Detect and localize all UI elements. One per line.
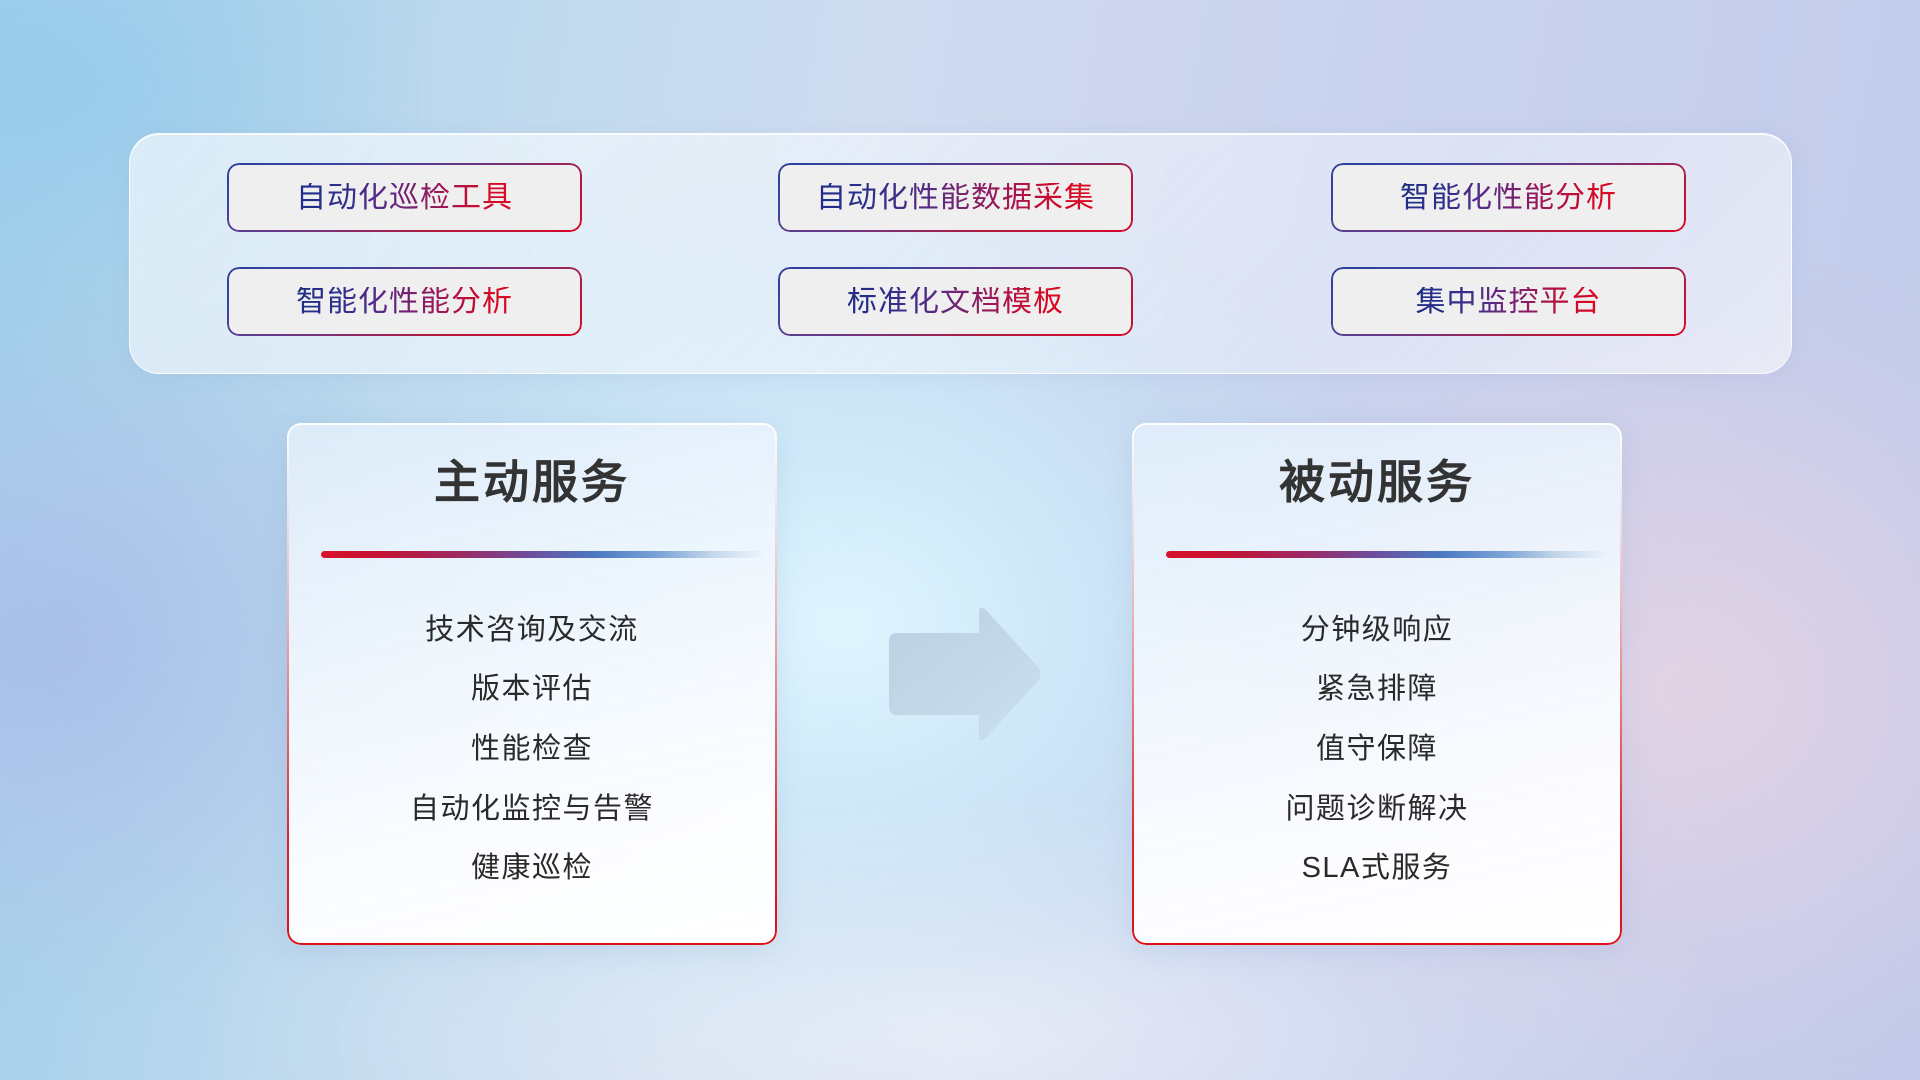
card-item-list: 分钟级响应 紧急排障 值守保障 问题诊断解决 SLA式服务 (1132, 588, 1622, 911)
list-item: 性能检查 (471, 732, 593, 767)
list-item: 健康巡检 (471, 851, 593, 886)
list-item: 分钟级响应 (1301, 613, 1454, 648)
tools-pill-grid: 自动化巡检工具 自动化性能数据采集 智能化性能分析 智能化性能分析 标准化文档模… (130, 134, 1791, 373)
pill-label: 自动化巡检工具 (296, 183, 513, 213)
list-item: 值守保障 (1316, 732, 1438, 767)
pill-label: 标准化文档模板 (847, 287, 1064, 317)
card-title: 被动服务 (1132, 457, 1622, 508)
card-divider (1166, 551, 1610, 558)
pill-label: 集中监控平台 (1416, 287, 1602, 317)
card-passive-service[interactable]: 被动服务 分钟级响应 紧急排障 值守保障 问题诊断解决 SLA式服务 (1132, 423, 1622, 945)
card-active-service[interactable]: 主动服务 技术咨询及交流 版本评估 性能检查 自动化监控与告警 健康巡检 (287, 423, 777, 945)
pill-smart-perf-analysis[interactable]: 智能化性能分析 (227, 267, 582, 336)
pill-auto-inspection-tool[interactable]: 自动化巡检工具 (227, 163, 582, 232)
pill-standard-doc-template[interactable]: 标准化文档模板 (778, 267, 1133, 336)
pill-smart-perf-analysis-top[interactable]: 智能化性能分析 (1331, 163, 1686, 232)
pill-label: 智能化性能分析 (1400, 183, 1617, 213)
pill-auto-perf-data-collection[interactable]: 自动化性能数据采集 (778, 163, 1133, 232)
pill-label: 自动化性能数据采集 (816, 183, 1095, 213)
list-item: 版本评估 (471, 672, 593, 707)
card-title: 主动服务 (287, 457, 777, 508)
slide-canvas: 自动化巡检工具 自动化性能数据采集 智能化性能分析 智能化性能分析 标准化文档模… (0, 0, 1920, 1080)
list-item: 技术咨询及交流 (425, 613, 639, 648)
list-item: SLA式服务 (1302, 851, 1453, 886)
pill-label: 智能化性能分析 (296, 287, 513, 317)
list-item: 紧急排障 (1316, 672, 1438, 707)
card-divider (321, 551, 765, 558)
tools-panel: 自动化巡检工具 自动化性能数据采集 智能化性能分析 智能化性能分析 标准化文档模… (129, 133, 1792, 374)
card-item-list: 技术咨询及交流 版本评估 性能检查 自动化监控与告警 健康巡检 (287, 588, 777, 911)
list-item: 自动化监控与告警 (410, 792, 654, 827)
pill-central-monitoring[interactable]: 集中监控平台 (1331, 267, 1686, 336)
arrow-right-icon (883, 603, 1043, 745)
list-item: 问题诊断解决 (1285, 792, 1468, 827)
